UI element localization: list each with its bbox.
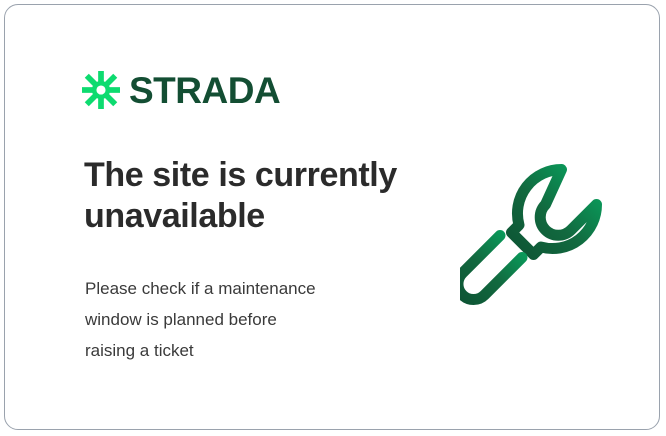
wrench-icon: [460, 155, 612, 310]
description-line: raising a ticket: [85, 335, 405, 366]
strada-asterisk-icon: [82, 71, 120, 109]
status-card: STRADA The site is currently unavailable…: [4, 4, 660, 430]
page-description: Please check if a maintenance window is …: [85, 273, 405, 366]
error-page: STRADA The site is currently unavailable…: [0, 0, 666, 436]
page-title: The site is currently unavailable: [84, 155, 424, 237]
description-line: window is planned before: [85, 304, 405, 335]
description-line: Please check if a maintenance: [85, 273, 405, 304]
brand-logo: STRADA: [82, 71, 280, 109]
brand-wordmark: STRADA: [129, 72, 280, 109]
